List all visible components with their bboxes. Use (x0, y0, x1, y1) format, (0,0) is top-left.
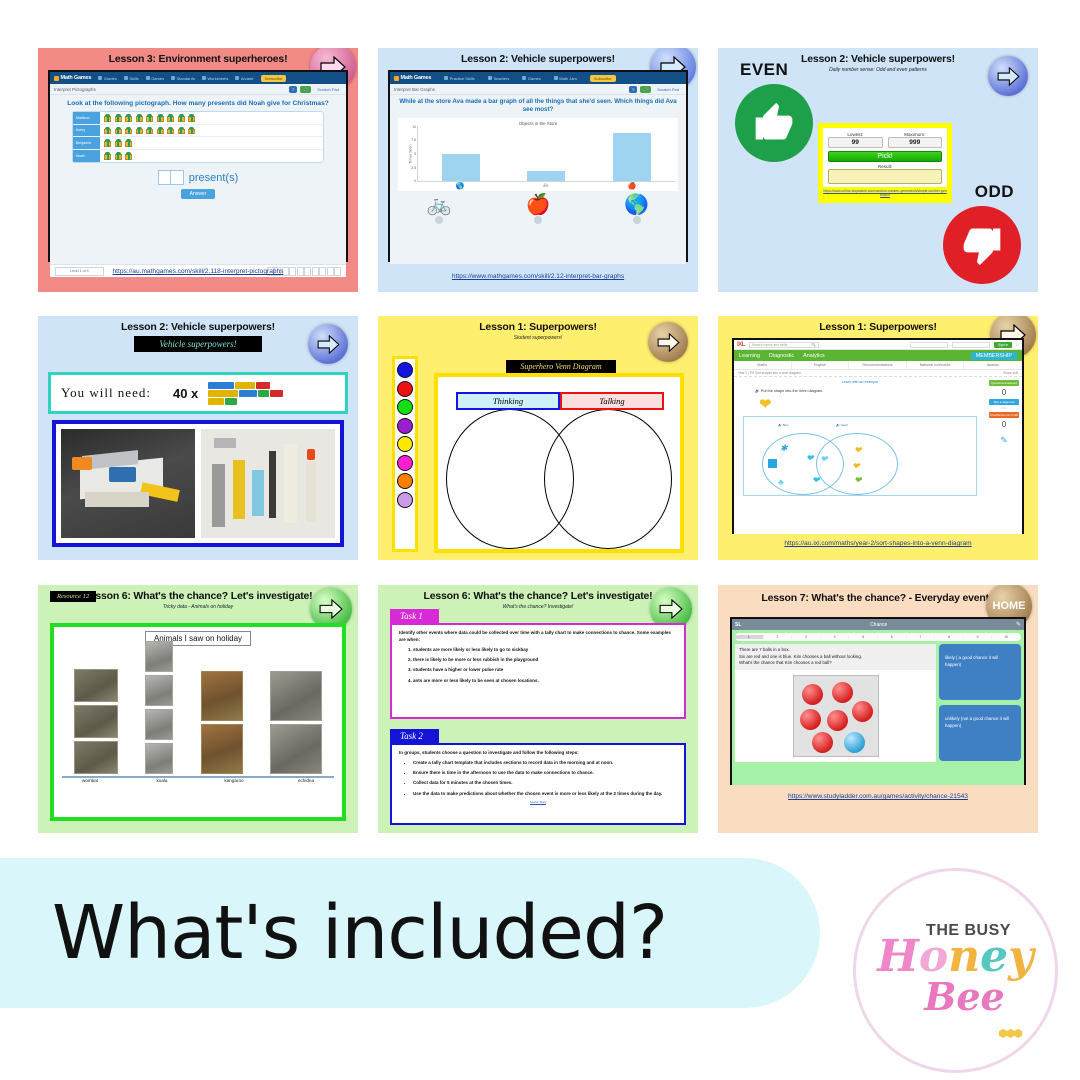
question-text: There are 7 balls in a box. Six are red … (735, 644, 936, 670)
breadcrumb-text: Year 2 | P.8 Sort shapes into a venn dia… (738, 371, 801, 375)
result-display (828, 169, 942, 184)
lego-bricks-icon (208, 382, 298, 405)
odd-label: ODD (975, 182, 1014, 202)
question-pager[interactable]: 1 2 3 4 5 6 7 8 9 10 (735, 633, 1021, 641)
mathgames-navbar[interactable]: Math Games Practice Skills Teachers Game… (390, 72, 686, 84)
mathgames-logo: Math Games (394, 75, 431, 81)
card-pictograph[interactable]: Lesson 3: Environment superheroes! Math … (38, 48, 358, 292)
task-2-list: Create a tally chart template that inclu… (413, 760, 677, 798)
source-url[interactable]: https://www.mathgames.com/skill/2.12-int… (386, 273, 690, 281)
username-field[interactable] (910, 342, 948, 348)
scratch-pad-button[interactable]: Scratch Pad (314, 86, 342, 93)
share-skill-link[interactable]: Share skill (1003, 371, 1018, 375)
questions-answered-label: Questions answered (989, 380, 1019, 386)
source-url[interactable]: https://au.mathgames.com/skill/2.118-int… (46, 268, 350, 276)
nav-teachers[interactable]: Teachers (488, 76, 510, 81)
nav-grades[interactable]: Grades (98, 76, 117, 81)
task-1-list: students are more likely or less likely … (413, 647, 677, 685)
shape-blue-heart-1-icon: ❤ (806, 453, 814, 464)
y-tick: 10 (412, 125, 416, 129)
bar-bicycle (527, 171, 565, 181)
nav-math-jam[interactable]: Math Jam (554, 76, 577, 81)
lesson-black-banner: Vehicle superpowers! (134, 336, 262, 352)
shape-green-heart-icon: ❤ (854, 475, 862, 486)
shape-blue-heart-3-icon: ❤ (812, 475, 820, 486)
red-ball (800, 709, 821, 730)
y-ticks: 10 7.5 5 2.5 0 (404, 126, 416, 182)
remember-checkbox[interactable]: ☐ (1016, 343, 1019, 347)
help-icon[interactable]: ? (629, 86, 637, 93)
generator-panel: Lowest: 99 Maximum: 999 Pick! Result: (823, 128, 947, 187)
lego-parts-layout-photo (201, 429, 335, 538)
pager-10[interactable]: 10 (992, 635, 1021, 639)
help-icon[interactable]: ? (289, 86, 297, 93)
number-generator-widget[interactable]: Lowest: 99 Maximum: 999 Pick! Result: ht… (818, 123, 952, 203)
subscribe-button[interactable]: Subscribe (590, 75, 616, 82)
pager-5[interactable]: 5 (849, 635, 878, 639)
mathgames-browser-pictograph[interactable]: Math Games Grades Skills Games Standards… (48, 70, 348, 262)
maximum-input[interactable]: 999 (888, 137, 943, 148)
answer-input[interactable] (158, 170, 184, 185)
choice-bicycle-icon[interactable]: 🚲 (427, 195, 452, 215)
audio-icon[interactable]: 🔊 (640, 86, 651, 93)
thumbs-up-icon (735, 84, 813, 162)
next-arrow-button[interactable] (988, 56, 1028, 96)
swatch-magenta[interactable] (397, 455, 413, 471)
materials-label: You will need: (61, 385, 151, 401)
y-tick: 2.5 (411, 166, 416, 170)
scratch-pad-button[interactable]: Scratch Pad (654, 86, 682, 93)
list-item: there is likely to be more or less rubbi… (413, 657, 677, 664)
logo-line-honey: Honey (877, 936, 1034, 978)
studyladder-window[interactable]: SL Chance ✎ 1 2 3 4 5 6 7 8 9 10 (730, 617, 1026, 785)
task-1-block: Task 1 Identify other events where data … (390, 609, 686, 719)
pager-7[interactable]: 7 (907, 635, 936, 639)
audio-icon[interactable]: 🔊 (755, 389, 760, 393)
swatch-blue[interactable] (397, 362, 413, 378)
red-ball (832, 682, 853, 703)
nav-learning[interactable]: Learning (739, 353, 760, 359)
shape-yellow-heart-2-icon: ❤ (852, 461, 860, 472)
card-animals[interactable]: Lesson 6: What's the chance? Let's inves… (38, 585, 358, 833)
balls-illustration (793, 675, 879, 757)
task-2-credit: Source: Team (399, 801, 677, 804)
swatch-yellow[interactable] (397, 436, 413, 452)
row-icons (100, 139, 132, 147)
row-label: Noah (73, 150, 100, 163)
table-row: Benjamin (73, 137, 323, 150)
materials-box: You will need: 40 x (48, 372, 348, 414)
swatch-red[interactable] (397, 381, 413, 397)
shape-yellow-heart-1-icon: ❤ (854, 445, 862, 456)
koala-photo (145, 675, 173, 706)
choice-globe-icon[interactable]: 🌎 (624, 195, 649, 215)
question-panel: There are 7 balls in a box. Six are red … (735, 644, 936, 762)
venn-title-banner: Superhero Venn Diagram (506, 360, 616, 373)
tab-national-curriculum[interactable]: National curriculum (907, 361, 965, 369)
card-grid: Lesson 3: Environment superheroes! Math … (0, 0, 1080, 848)
pencil-icon[interactable]: ✎ (1000, 435, 1008, 446)
task-2-block: Task 2 In groups, students choose a ques… (390, 729, 686, 825)
venn-label-heart: 🔊 Heart (836, 423, 848, 427)
activity-body: 1 2 3 4 5 6 7 8 9 10 There are 7 balls i… (732, 630, 1024, 785)
lego-vehicle-build-photo (61, 429, 195, 538)
wombat-photo (74, 705, 118, 738)
row-label: Madison (73, 112, 100, 124)
list-item: Create a tally chart template that inclu… (413, 760, 677, 767)
mathgames-logo: Math Games (54, 75, 91, 81)
brand-logo: THE BUSY Honey Bee ⬢⬢⬢ (853, 868, 1058, 1073)
pager-6[interactable]: 6 (878, 635, 907, 639)
ixl-header[interactable]: IXL Search topics and skills 🔍 Sign in ☐ (734, 340, 1022, 350)
answer-options[interactable]: likely ( a good chance it will happen) u… (939, 644, 1021, 762)
red-ball (812, 732, 833, 753)
ixl-logo: IXL (737, 342, 745, 348)
kangaroo-photo (201, 671, 243, 721)
row-icons (100, 152, 132, 160)
skill-bar: Interpret Bar Graphs ? 🔊 Scratch Pad (390, 84, 686, 95)
table-row: Noah (73, 150, 323, 163)
plot-area (417, 126, 675, 182)
choice-radios[interactable] (390, 216, 686, 226)
option-likely[interactable]: likely ( a good chance it will happen) (939, 644, 1021, 700)
pager-4[interactable]: 4 (821, 635, 850, 639)
thumbs-down-icon (943, 206, 1021, 284)
question-panel: Learn with an example 🔊 Put the shape in… (734, 377, 986, 534)
tab-english[interactable]: English (792, 361, 850, 369)
task-1-body: Identify other events where data could b… (390, 623, 686, 719)
lowest-input[interactable]: 99 (828, 137, 883, 148)
smartscore-label: SmartScore out of 100 (989, 412, 1019, 418)
nav-games[interactable]: Games (146, 76, 164, 81)
maximum-field-group: Maximum: 999 (888, 132, 943, 148)
nav-arcade[interactable]: Arcade (235, 76, 253, 81)
venn-label-blue: 🔊 Blue (778, 423, 789, 427)
y-tick: 5 (414, 152, 416, 156)
list-item: Collect data for 5 minutes at the chosen… (413, 780, 677, 787)
option-unlikely[interactable]: unlikely (not a good chance it will happ… (939, 705, 1021, 761)
tab-recommendations[interactable]: Recommendations (849, 361, 907, 369)
tab-maths[interactable]: Maths (734, 361, 792, 369)
x-label-globe-icon: 🌎 (441, 182, 479, 190)
blue-ball (844, 732, 865, 753)
x-label-bicycle-icon: 🚲 (527, 182, 565, 190)
list-item: Ensure there is time in the afternoon to… (413, 770, 677, 777)
nav-games[interactable]: Games (522, 76, 540, 81)
even-label: EVEN (740, 60, 788, 80)
range-inputs: Lowest: 99 Maximum: 999 (828, 132, 942, 148)
card-even-odd[interactable]: Lesson 2: Vehicle superpowers! Daily num… (718, 48, 1038, 292)
question-area: While at the store Ava made a bar graph … (390, 95, 686, 264)
pager-1[interactable]: 1 (735, 635, 764, 639)
window-title: Chance (741, 622, 1016, 628)
swatch-violet[interactable] (397, 492, 413, 508)
question-text: While at the store Ava made a bar graph … (390, 95, 686, 115)
row-icons (100, 114, 195, 122)
materials-quantity: 40 x (173, 386, 198, 401)
password-field[interactable] (952, 342, 990, 348)
nav-analytics[interactable]: Analytics (803, 353, 825, 359)
card-chance[interactable]: Lesson 7: What's the chance? - Everyday … (718, 585, 1038, 833)
pictograph-table: Madison Avery Benjamin (72, 111, 324, 163)
search-input[interactable]: Search topics and skills 🔍 (749, 342, 819, 348)
score-panel: Questions answered 0 Take a diagnostic □… (986, 377, 1022, 534)
column-kangaroo (201, 671, 243, 774)
source-url[interactable]: https://au.ixl.com/maths/year-2/sort-sha… (726, 540, 1030, 548)
ixl-content: Learn with an example 🔊 Put the shape in… (734, 377, 1022, 534)
whats-included-banner: What's included? (0, 858, 820, 1008)
sign-in-button[interactable]: Sign in (994, 342, 1012, 348)
audio-icon[interactable]: 🔊 (300, 86, 311, 93)
ixl-browser[interactable]: IXL Search topics and skills 🔍 Sign in ☐… (732, 338, 1024, 534)
x-label-koala: koala (132, 778, 192, 783)
shape-blue-square-icon (768, 459, 777, 468)
x-label-apple-icon: 🍎 (613, 182, 651, 190)
venn-label-talking: Talking (560, 392, 664, 410)
mathgames-navbar[interactable]: Math Games Grades Skills Games Standards… (50, 72, 346, 84)
pager-8[interactable]: 8 (935, 635, 964, 639)
swatch-orange[interactable] (397, 473, 413, 489)
bar-apple (613, 133, 651, 181)
pencil-icon[interactable]: ✎ (1016, 621, 1021, 628)
take-diagnostic-button[interactable]: Take a diagnostic (989, 399, 1019, 405)
shape-blue-heart-2-icon: ❤ (820, 454, 828, 465)
page-root: Lesson 3: Environment superheroes! Math … (0, 0, 1080, 1080)
task-1-intro: Identify other events where data could b… (399, 630, 677, 644)
card-title: Lesson 2: Vehicle superpowers! (38, 316, 358, 334)
lowest-field-group: Lowest: 99 (828, 132, 883, 148)
x-tick-labels: 🌎 🚲 🍎 (401, 182, 675, 190)
home-button-label: HOME (993, 600, 1026, 612)
list-item: students are more likely or less likely … (413, 647, 677, 654)
search-icon[interactable]: 🔍 (812, 343, 818, 347)
red-ball (827, 710, 848, 731)
table-row: Avery (73, 125, 323, 138)
y-tick: 0 (414, 179, 416, 183)
time-stats: □ □ □ (1001, 407, 1007, 410)
breadcrumb: Year 2 | P.8 Sort shapes into a venn dia… (734, 370, 1022, 377)
learn-with-example-link[interactable]: Learn with an example (737, 380, 983, 384)
nav-worksheets[interactable]: Worksheets (202, 76, 229, 81)
nav-diagnostic[interactable]: Diagnostic (769, 353, 794, 359)
generator-url[interactable]: https://www.online-stopwatch.com/random-… (823, 189, 947, 198)
answer-unit-label: present(s) (189, 172, 239, 184)
subscribe-button[interactable]: Subscribe (261, 75, 287, 82)
choice-apple-icon[interactable]: 🍎 (526, 195, 551, 215)
card-lego[interactable]: Lesson 2: Vehicle superpowers! Vehicle s… (38, 316, 358, 560)
banner-heading: What's included? (0, 890, 667, 976)
answer-choices[interactable]: 🚲 🍎 🌎 (390, 191, 686, 216)
answer-row: present(s) (50, 170, 346, 185)
membership-button[interactable]: MEMBERSHIP (971, 352, 1017, 360)
task-2-tab: Task 2 (390, 729, 439, 743)
koala-photo (145, 641, 173, 672)
skill-bar: Interpret Pictographs ? 🔊 Scratch Pad (50, 84, 346, 95)
shape-blue-club-icon: ♣ (778, 477, 784, 487)
chart-plot: Times Seen 10 7.5 5 2.5 0 (401, 126, 675, 182)
draggable-shape-heart-icon[interactable]: ❤ (759, 397, 983, 412)
venn-diagram-area[interactable]: 🔊 Blue 🔊 Heart ✱ ♣ ❤ ❤ ❤ ❤ ❤ ❤ (743, 416, 977, 496)
venn-label-thinking: Thinking (456, 392, 560, 410)
echidna-photo (270, 724, 322, 774)
nav-standards[interactable]: Standards (171, 76, 195, 81)
column-wombat (74, 669, 118, 774)
pick-button[interactable]: Pick! (828, 151, 942, 162)
y-axis: Times Seen 10 7.5 5 2.5 0 (401, 126, 417, 182)
wombat-photo (74, 669, 118, 702)
question-prompt: 🔊 Put the shape into the Venn diagram. (755, 388, 983, 393)
pager-9[interactable]: 9 (964, 635, 993, 639)
activity-content: There are 7 balls in a box. Six are red … (735, 644, 1021, 762)
colour-palette[interactable] (392, 356, 418, 552)
lego-photos (52, 420, 344, 547)
card-tasks[interactable]: Lesson 6: What's the chance? Let's inves… (378, 585, 698, 833)
question-area: Look at the following pictograph. How ma… (50, 95, 346, 264)
tab-awards[interactable]: Awards (964, 361, 1022, 369)
task-1-tab: Task 1 (390, 609, 439, 623)
ixl-main-nav[interactable]: Learning Diagnostic Analytics MEMBERSHIP (734, 350, 1022, 361)
list-item: students have a higher or lower pulse ra… (413, 667, 677, 674)
picture-graph: Animals I saw on holiday (50, 623, 346, 821)
bar-chart: Objects in the Store Times Seen 10 7.5 5… (398, 118, 678, 191)
bar-globe (442, 154, 480, 180)
red-ball (802, 684, 823, 705)
koala-photo (145, 709, 173, 740)
x-label-echidna: echidna (276, 778, 336, 783)
list-item: Use the data to make predictions about w… (413, 791, 677, 798)
mathgames-browser-bargraph[interactable]: Math Games Practice Skills Teachers Game… (388, 70, 688, 262)
card-ixl[interactable]: Lesson 1: Superpowers! IXL Search topics… (718, 316, 1038, 560)
x-label-wombat: wombat (60, 778, 120, 783)
honeycomb-icon: ⬢⬢⬢ (998, 1027, 1021, 1040)
wombat-photo (74, 741, 118, 774)
swatch-purple[interactable] (397, 418, 413, 434)
koala-photo (145, 743, 173, 774)
nav-practice-skills[interactable]: Practice Skills (444, 76, 474, 81)
ixl-subject-tabs[interactable]: Maths English Recommendations National c… (734, 361, 1022, 370)
table-row: Madison (73, 112, 323, 125)
venn-canvas[interactable]: Thinking Talking (434, 373, 684, 553)
card-bargraph[interactable]: Lesson 2: Vehicle superpowers! Math Game… (378, 48, 698, 292)
skill-label: Interpret Bar Graphs (394, 87, 435, 92)
next-arrow-button[interactable] (308, 324, 348, 364)
red-ball (852, 701, 873, 722)
row-label: Avery (73, 125, 100, 137)
y-tick: 7.5 (411, 138, 416, 142)
x-label-kangaroo: kangaroo (204, 778, 264, 783)
row-icons (100, 127, 195, 135)
pager-2[interactable]: 2 (764, 635, 793, 639)
venn-circle-talking (544, 409, 672, 549)
nav-skills[interactable]: Skills (124, 76, 139, 81)
prompt-text: Put the shape into the Venn diagram. (761, 389, 823, 393)
smartscore-value: 0 (1002, 420, 1006, 429)
column-koala (145, 641, 173, 774)
next-arrow-button[interactable] (648, 322, 688, 362)
task-2-body: In groups, students choose a question to… (390, 743, 686, 825)
kangaroo-photo (201, 724, 243, 774)
search-placeholder: Search topics and skills (752, 343, 787, 347)
shape-blue-star-icon: ✱ (780, 443, 788, 454)
echidna-photo (270, 671, 322, 721)
skill-label: Interpret Pictographs (54, 87, 96, 92)
swatch-green[interactable] (397, 399, 413, 415)
logo-line-bee: Bee (924, 974, 1004, 1019)
row-label: Benjamin (73, 137, 100, 149)
graph-columns (54, 646, 342, 774)
pager-3[interactable]: 3 (792, 635, 821, 639)
questions-answered-value: 0 (1002, 388, 1006, 397)
task-2-intro: In groups, students choose a question to… (399, 750, 677, 757)
x-tick-labels: wombat koala kangaroo echidna (54, 778, 342, 783)
window-titlebar: SL Chance ✎ (732, 619, 1024, 630)
resource-tag: Resource 12 (50, 591, 96, 602)
question-text: Look at the following pictograph. How ma… (50, 95, 346, 111)
answer-button[interactable]: Answer (181, 189, 216, 199)
column-echidna (270, 671, 322, 774)
list-item: ants are more or less likely to be seen … (413, 678, 677, 685)
card-venn[interactable]: Lesson 1: Superpowers! Student superpowe… (378, 316, 698, 560)
card-title: Lesson 6: What's the chance? Let's inves… (378, 585, 698, 603)
source-url[interactable]: https://www.studyladder.com.au/games/act… (726, 793, 1030, 801)
